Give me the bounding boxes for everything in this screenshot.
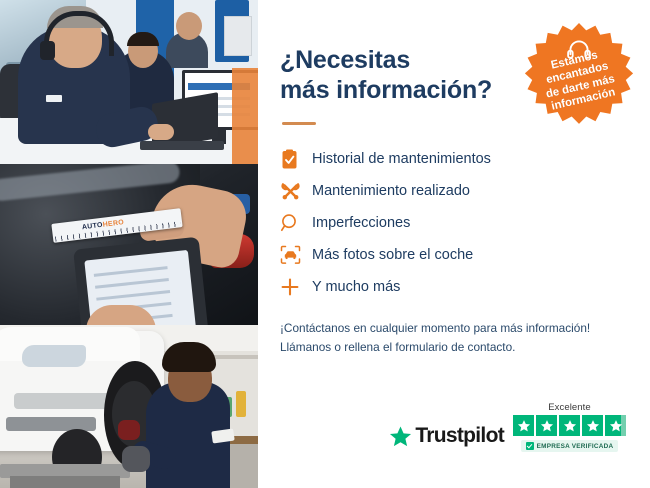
trustpilot-stars	[513, 415, 626, 436]
headline-line-1: ¿Necesitas	[280, 46, 410, 74]
trustpilot-logo: Trustpilot	[389, 424, 504, 452]
photo-scratch-inspection: AUTOHERO	[0, 164, 258, 325]
feature-item-much-more: Y mucho más	[280, 271, 624, 303]
contact-line-1: ¡Contáctanos en cualquier momento para m…	[280, 319, 624, 338]
car-scan-icon	[280, 245, 312, 265]
contact-line-2: Llámanos o rellena el formulario de cont…	[280, 338, 624, 357]
content-panel: ¿Necesitas más información? Historial de…	[258, 0, 650, 488]
star-3	[559, 415, 580, 436]
promo-banner: AUTOHERO	[0, 0, 650, 488]
star-5-partial	[605, 415, 626, 436]
plus-icon	[280, 277, 312, 297]
feature-label: Mantenimiento realizado	[312, 184, 470, 199]
verified-label: EMPRESA VERIFICADA	[537, 443, 614, 450]
feature-item-maintenance-done: Mantenimiento realizado	[280, 175, 624, 207]
photo-column: AUTOHERO	[0, 0, 258, 488]
feature-label: Imperfecciones	[312, 216, 410, 231]
title-divider	[282, 122, 316, 125]
feature-label: Y mucho más	[312, 280, 400, 295]
ruler-brand-part1: AUTO	[82, 222, 104, 231]
contact-text: ¡Contáctanos en cualquier momento para m…	[280, 319, 624, 357]
feature-item-maintenance-history: Historial de mantenimientos	[280, 143, 624, 175]
ruler-brand-part2: HERO	[102, 219, 124, 229]
photo-call-centre	[0, 0, 258, 164]
feature-list: Historial de mantenimientos M	[280, 143, 624, 303]
star-1	[513, 415, 534, 436]
verified-company-badge: EMPRESA VERIFICADA	[521, 440, 619, 452]
feature-item-imperfections: Imperfecciones	[280, 207, 624, 239]
trustpilot-rating-label: Excelente	[548, 402, 591, 413]
magnifier-icon	[280, 213, 312, 233]
trustpilot-wordmark: Trustpilot	[415, 424, 504, 448]
headline-line-2: más información?	[280, 76, 492, 104]
trustpilot-star-icon	[389, 425, 412, 448]
check-icon	[526, 442, 534, 450]
star-2	[536, 415, 557, 436]
feature-label: Más fotos sobre el coche	[312, 248, 473, 263]
clipboard-check-icon	[280, 149, 312, 170]
feature-label: Historial de mantenimientos	[312, 152, 491, 167]
support-badge: Estamos encantados de darte más informac…	[524, 22, 634, 132]
trustpilot-rating: Excelente	[513, 402, 626, 452]
crossed-tools-icon	[280, 181, 312, 202]
feature-item-more-photos: Más fotos sobre el coche	[280, 239, 624, 271]
star-4	[582, 415, 603, 436]
trustpilot-widget[interactable]: Trustpilot Excelente	[389, 402, 626, 452]
photo-wheel-inspection	[0, 325, 258, 488]
